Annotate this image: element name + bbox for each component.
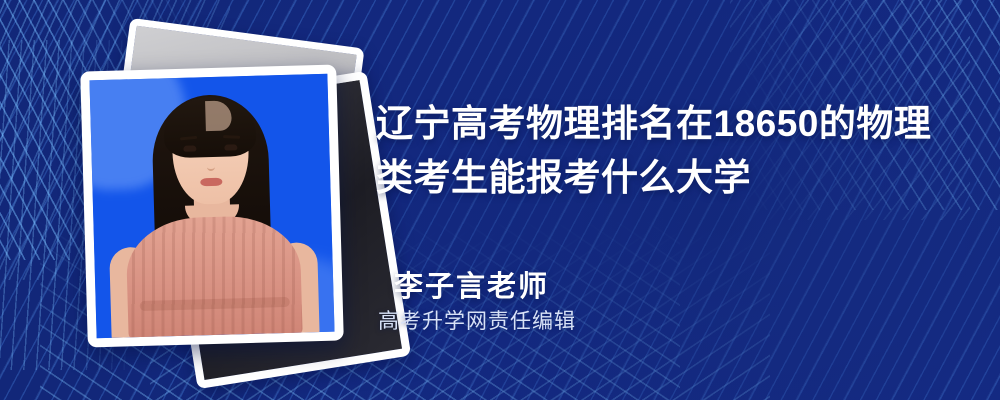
nose — [207, 159, 215, 171]
portrait-card-stack — [62, 30, 352, 360]
eye-right — [224, 144, 237, 150]
dress — [125, 215, 302, 344]
page-title-line-2: 类考生能报考什么大学 — [376, 151, 956, 205]
byline: 李子言老师 高考升学网责任编辑 — [378, 268, 778, 338]
dress-folds — [125, 215, 302, 344]
eye-left — [183, 145, 196, 151]
mouth — [200, 178, 222, 187]
page-title: 辽宁高考物理排名在18650的物理 类考生能报考什么大学 — [376, 97, 956, 205]
portrait-person-figure — [89, 74, 334, 339]
author-name: 李子言老师 — [378, 268, 778, 306]
portrait-photo-card — [80, 64, 344, 347]
author-role: 高考升学网责任编辑 — [378, 306, 778, 338]
page-title-line-1: 辽宁高考物理排名在18650的物理 — [376, 97, 956, 151]
article-header-banner: 辽宁高考物理排名在18650的物理 类考生能报考什么大学 李子言老师 高考升学网… — [0, 0, 1000, 400]
